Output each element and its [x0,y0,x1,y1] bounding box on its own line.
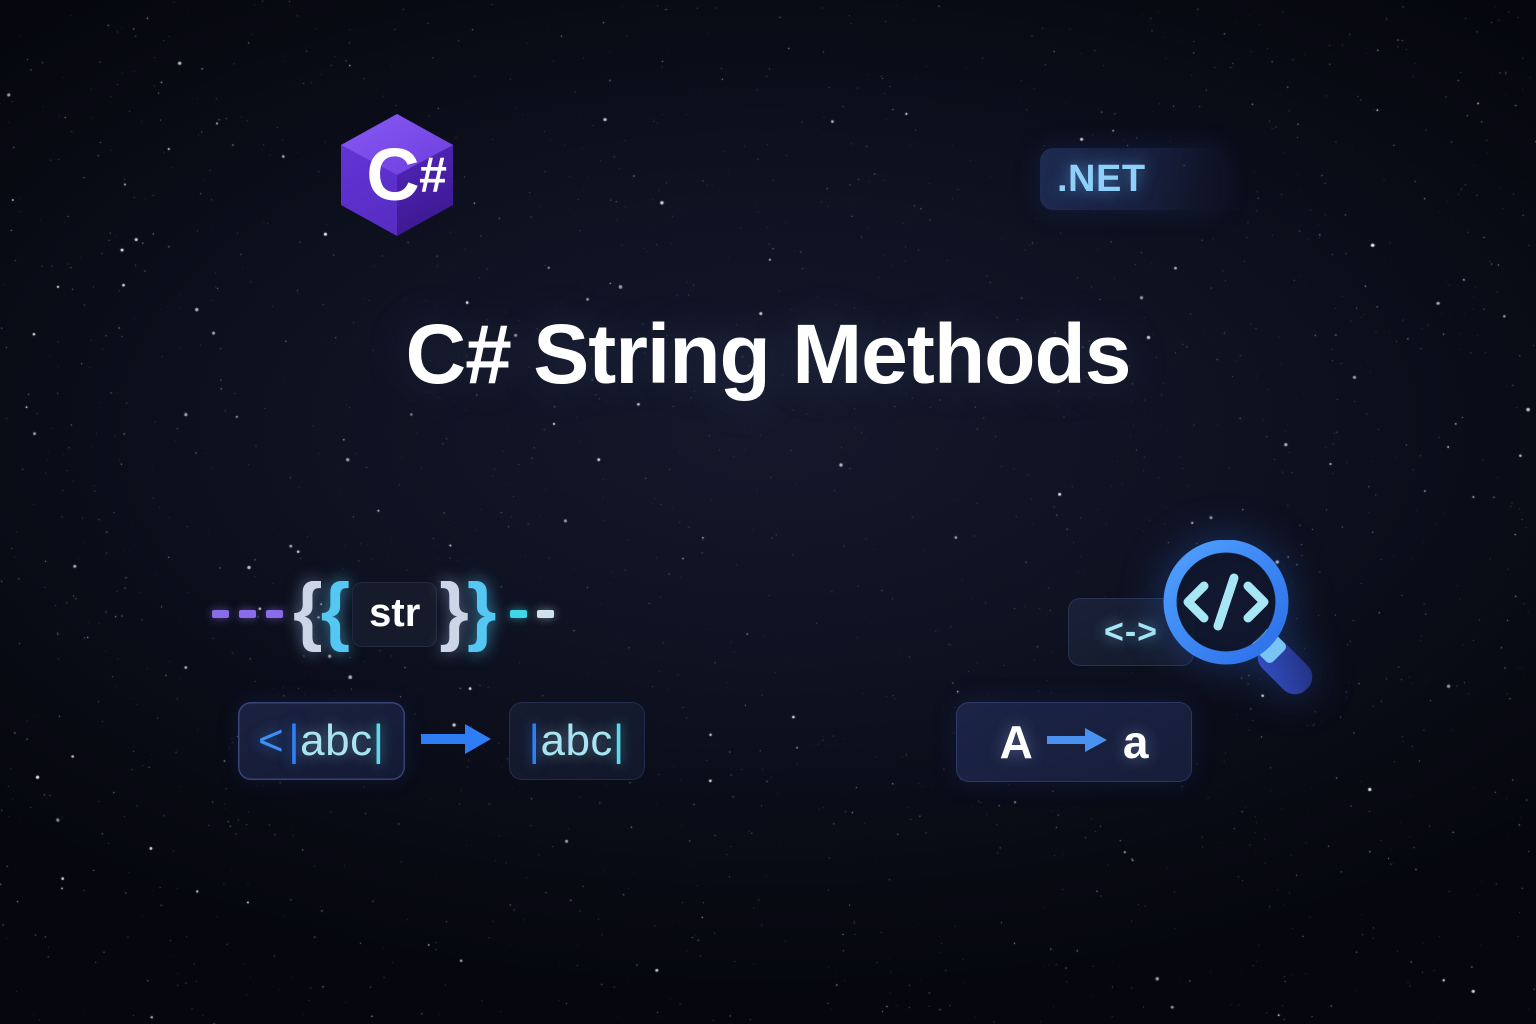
svg-text:C: C [366,133,419,216]
dash-left-3 [266,610,283,618]
trim-input-pipe-open: | [288,716,300,766]
trim-arrow-icon [421,722,493,761]
trim-output-box: | abc | [509,702,645,780]
swap-arrows-icon: <-> [1104,613,1158,652]
csharp-logo-icon: C # [337,112,457,238]
to-lower-card: A a [956,702,1192,782]
case-from-letter: A [1000,715,1033,769]
trim-output-text: abc [540,716,612,766]
dash-left-2 [239,610,256,618]
magnifier-code-icon [1160,540,1340,700]
page-title: C# String Methods [0,306,1536,403]
trim-illustration: < | abc | | abc | [238,702,645,780]
inner-brace-open: { [321,573,351,649]
string-interpolation-illustration: { { str } } [212,560,512,668]
dash-left-1 [212,610,229,618]
str-token-chip: str [352,582,437,647]
trim-lead-glyph: < [258,716,284,766]
search-replace-illustration: <-> [1060,540,1350,700]
dash-right-2 [537,610,554,618]
poster-canvas: C # .NET C# String Methods { { str } } <… [0,0,1536,1024]
outer-brace-open: { [293,573,323,649]
case-arrow-icon [1047,726,1109,759]
trim-output-pipe-open: | [529,716,541,766]
trim-input-text: abc [300,716,372,766]
outer-brace-close: } [467,573,497,649]
inner-brace-close: } [439,573,469,649]
case-to-letter: a [1123,715,1149,769]
dash-right-1 [510,610,527,618]
trim-output-pipe-close: | [613,716,625,766]
starfield-background [0,0,1536,1024]
svg-text:#: # [419,147,447,203]
trim-input-box: < | abc | [238,702,405,780]
trim-input-pipe-close: | [373,716,385,766]
dotnet-badge-label: .NET [1057,158,1146,201]
dotnet-badge: .NET [1040,148,1222,210]
